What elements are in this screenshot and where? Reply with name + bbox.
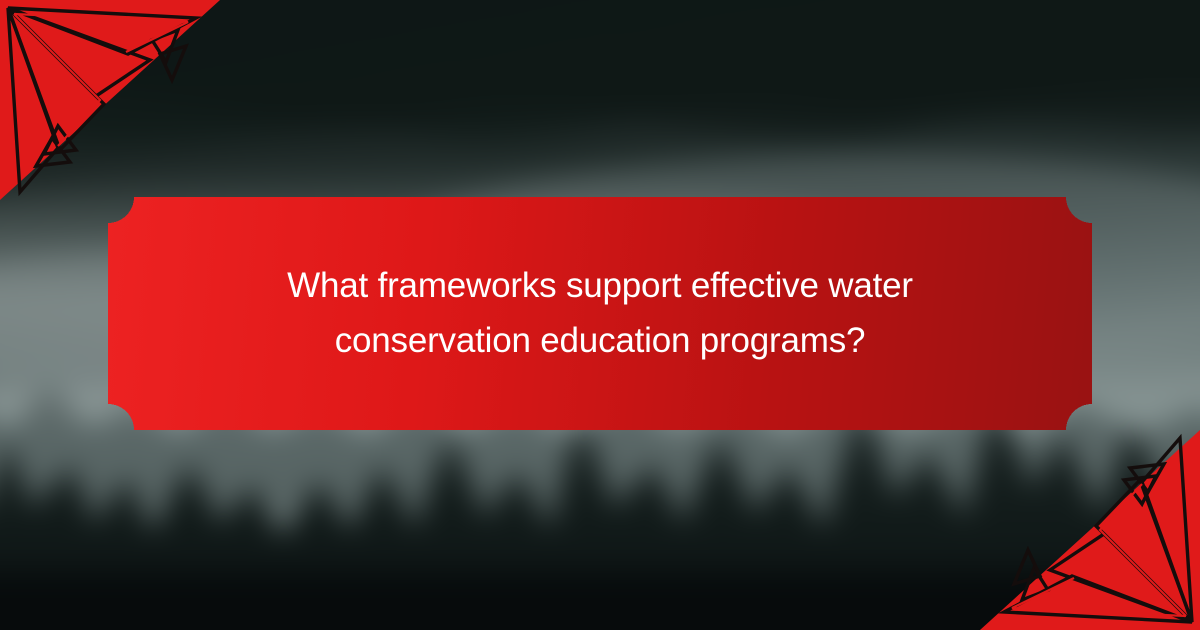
question-text: What frameworks support effective water … <box>250 259 950 368</box>
promo-card: What frameworks support effective water … <box>0 0 1200 630</box>
question-banner: What frameworks support effective water … <box>108 197 1092 430</box>
corner-ornament-top-left <box>0 0 220 200</box>
corner-ornament-bottom-right <box>980 430 1200 630</box>
